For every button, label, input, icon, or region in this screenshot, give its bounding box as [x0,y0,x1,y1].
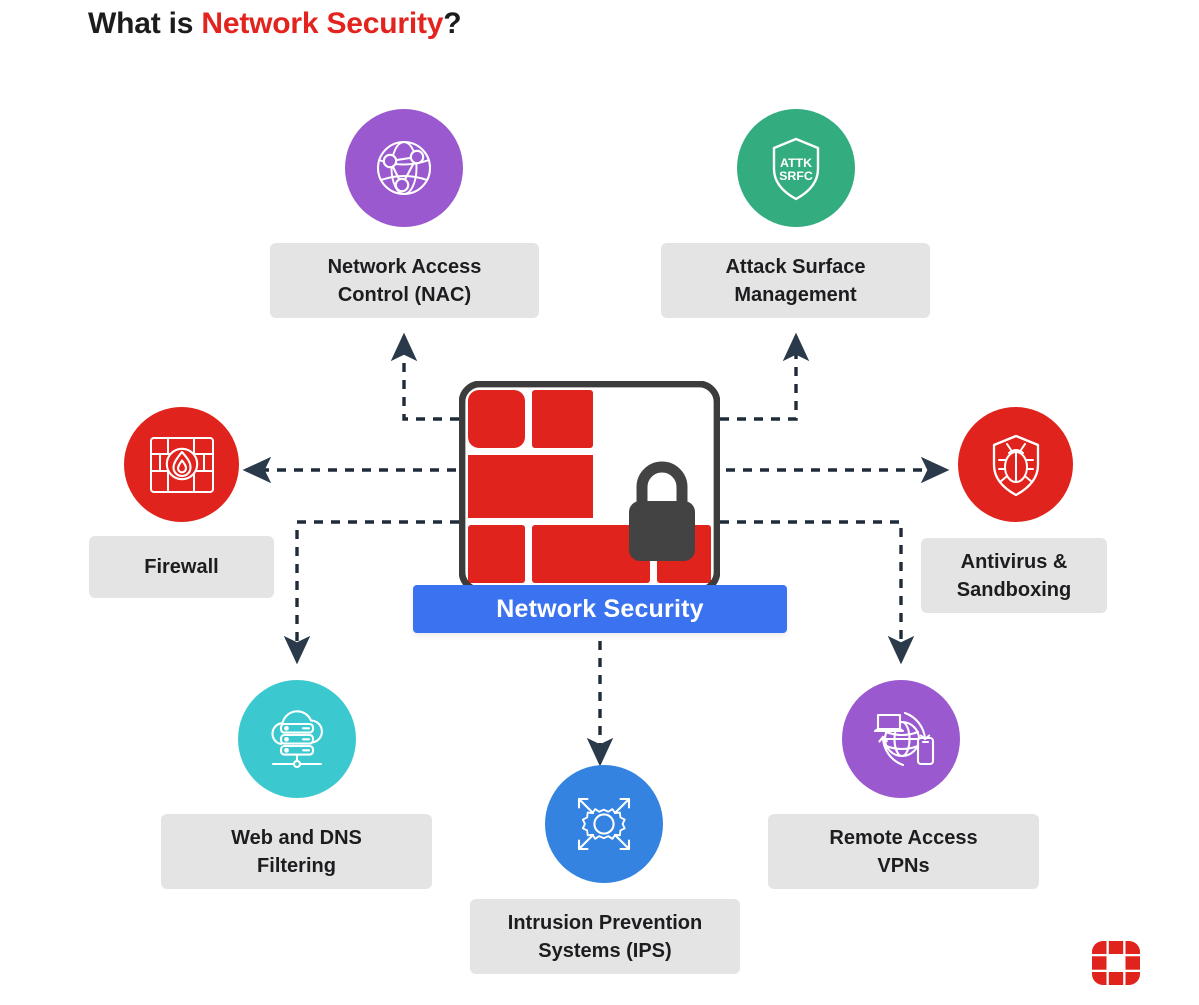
label-line: Control (NAC) [328,281,482,309]
firewall-flame-brick-icon [124,407,239,522]
label-network-access-control: Network Access Control (NAC) [270,243,539,318]
label-antivirus-sandboxing: Antivirus & Sandboxing [921,538,1107,613]
label-line: Systems (IPS) [508,937,702,965]
label-line: Management [725,281,865,309]
globe-devices-sync-icon [842,680,960,798]
label-line: Remote Access [829,824,977,852]
gear-arrows-icon [545,765,663,883]
title-suffix: ? [443,7,461,40]
shield-attk-srfc-icon: ATTK SRFC [737,109,855,227]
diagram-canvas: What is Network Security? [0,0,1199,1005]
center-banner: Network Security [413,585,787,633]
label-line: Attack Surface [725,253,865,281]
label-remote-access-vpns: Remote Access VPNs [768,814,1039,889]
network-globe-icon [345,109,463,227]
shield-icon-text-line2: SRFC [779,169,813,183]
shield-bug-icon [958,407,1073,522]
title-prefix: What is [88,7,201,40]
label-line: Intrusion Prevention [508,909,702,937]
label-line: Antivirus & [957,548,1071,576]
label-line: Network Access [328,253,482,281]
connector-to-nac [404,336,459,419]
label-intrusion-prevention-systems: Intrusion Prevention Systems (IPS) [470,899,740,974]
label-line: Filtering [231,852,362,880]
connector-to-asm [720,336,796,419]
label-line: Web and DNS [231,824,362,852]
label-attack-surface-management: Attack Surface Management [661,243,930,318]
label-web-dns-filtering: Web and DNS Filtering [161,814,432,889]
brick-wall-lock-icon [459,381,720,593]
label-firewall: Firewall [89,536,274,598]
label-line: Sandboxing [957,576,1071,604]
cloud-server-icon [238,680,356,798]
shield-icon-text-line1: ATTK [780,156,812,170]
label-line: Firewall [144,553,218,581]
label-line: VPNs [829,852,977,880]
title-accent: Network Security [201,7,443,40]
page-title: What is Network Security? [88,7,461,41]
fortinet-logo-icon [1092,941,1140,985]
